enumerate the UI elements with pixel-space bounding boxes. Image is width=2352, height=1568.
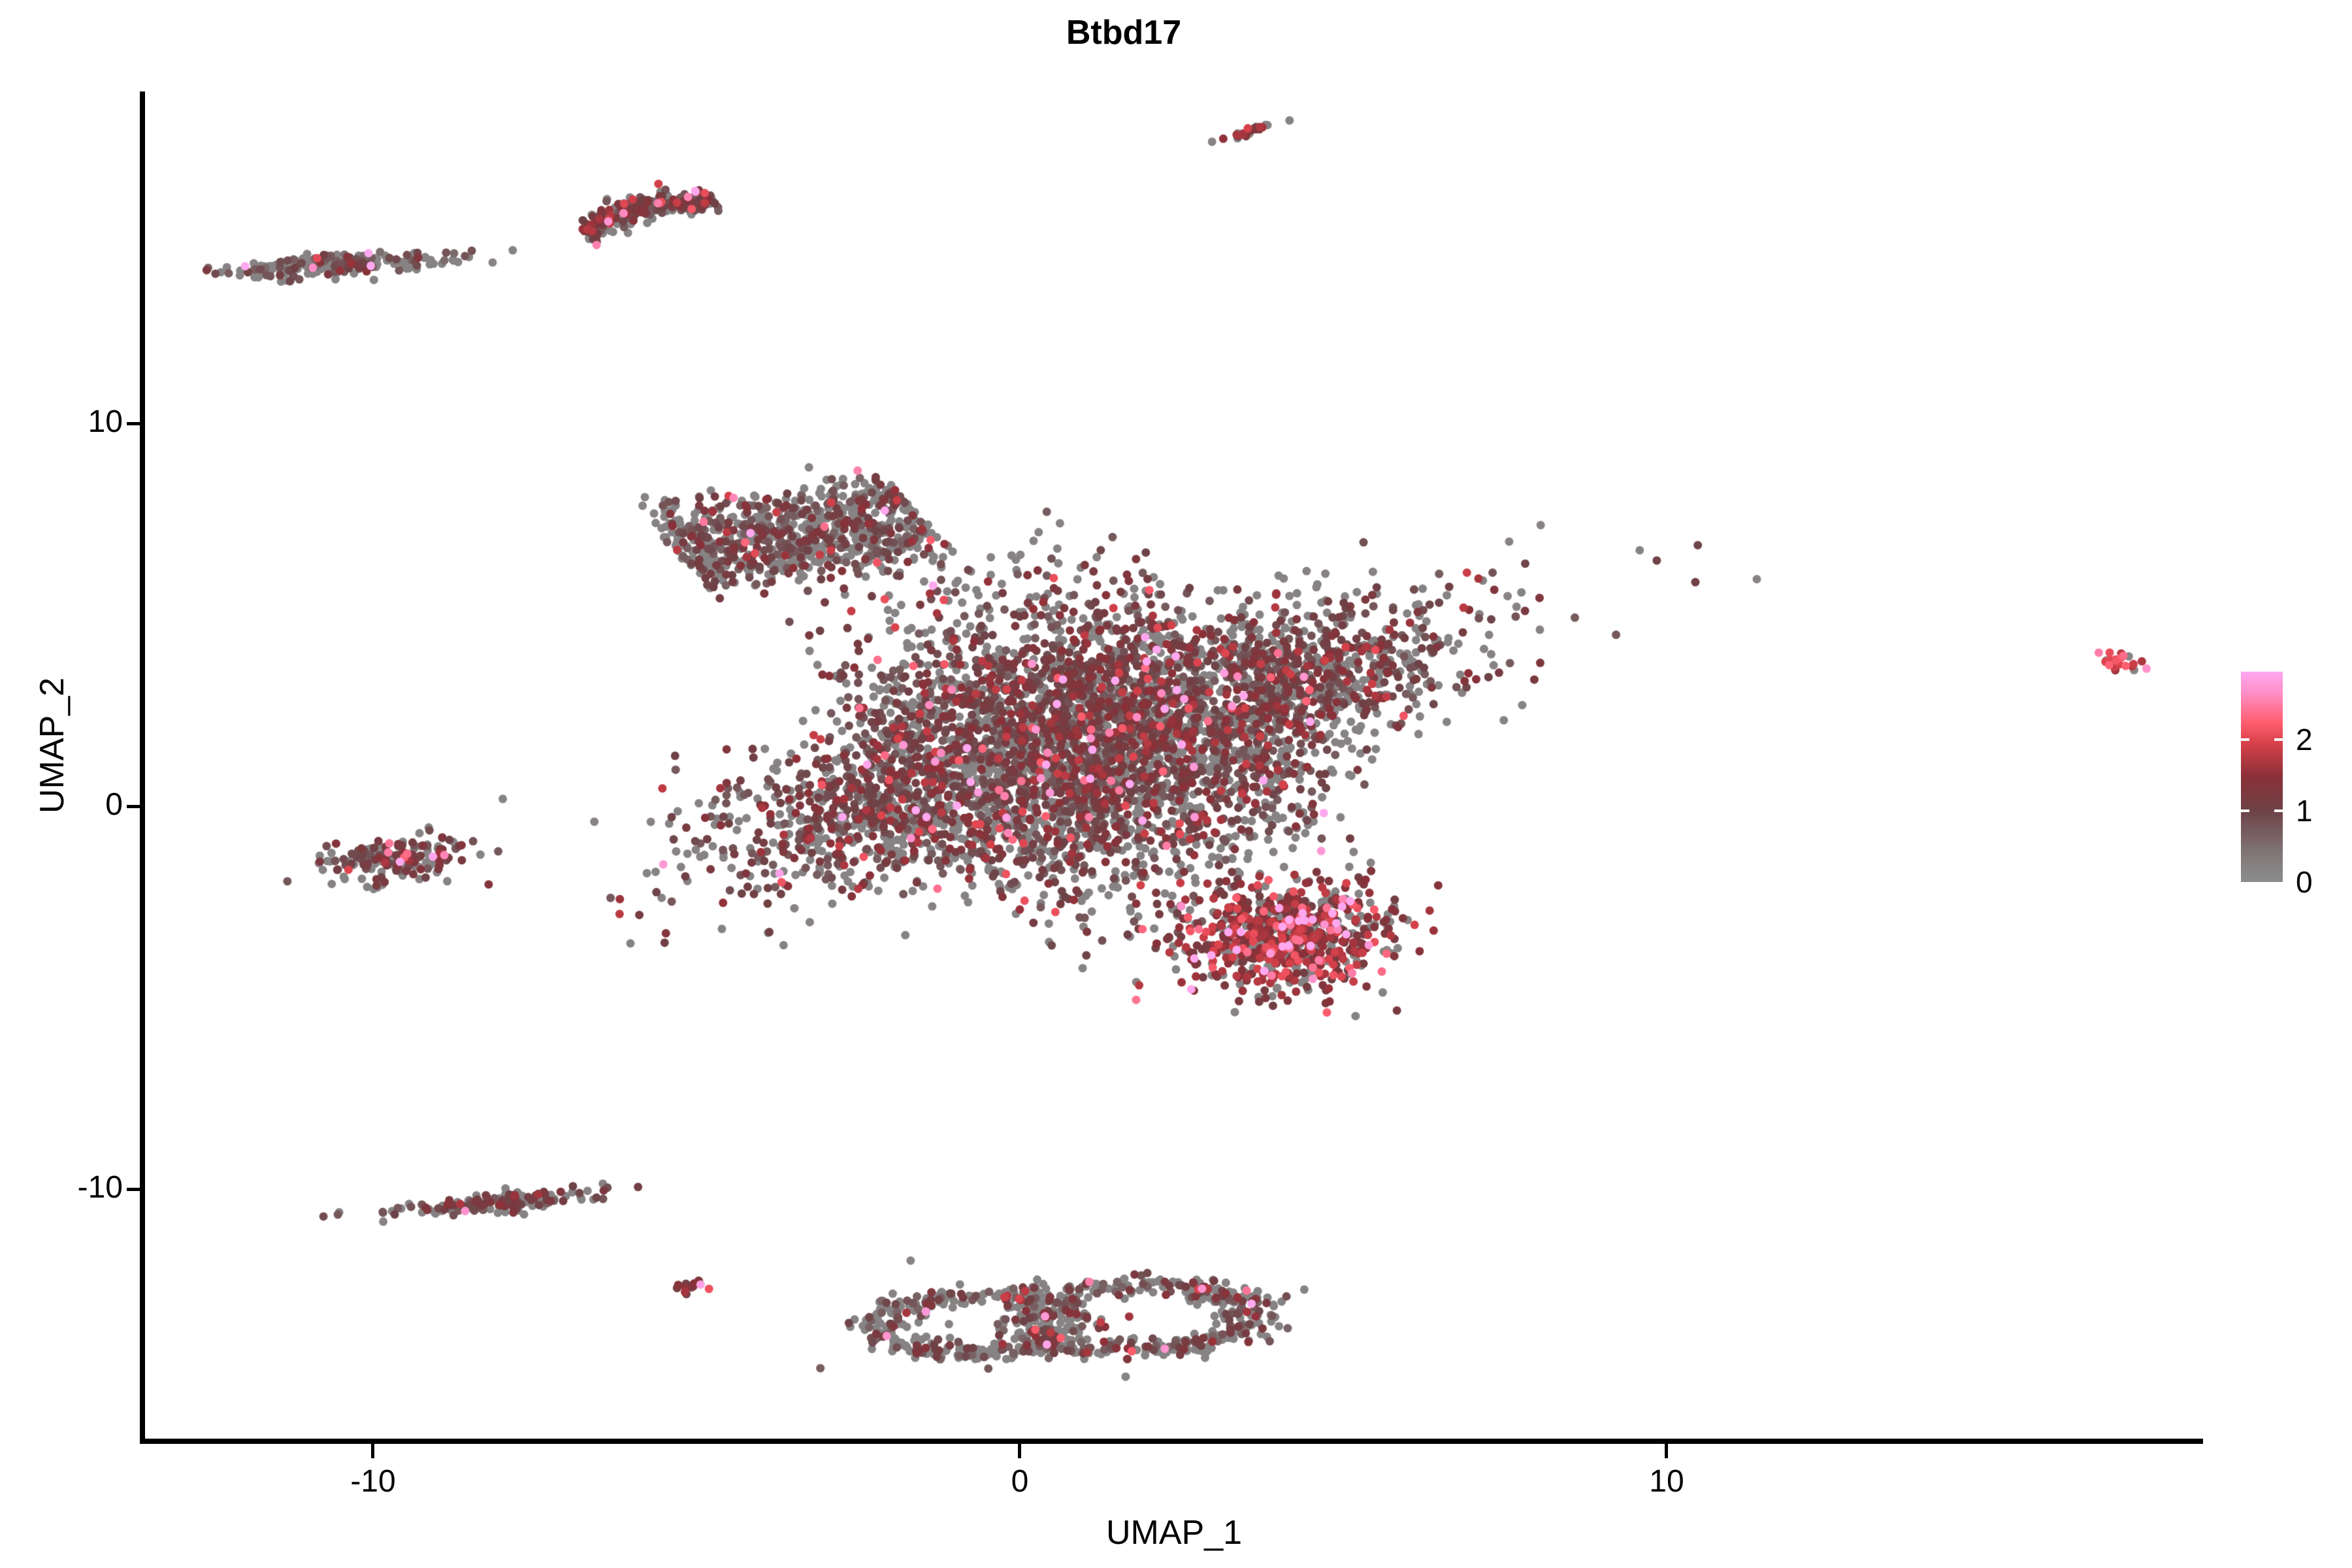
colorbar-label-1: 1 [2296, 796, 2313, 826]
x-axis-line [140, 1439, 2203, 1444]
x-ticklabel-neg10: -10 [350, 1466, 395, 1497]
x-tick-0 [1018, 1444, 1021, 1458]
colorbar-tick-1-right [2274, 809, 2283, 812]
y-tick-neg10 [127, 1188, 140, 1191]
feature-plot-root: Btbd17 10 0 -10 -10 0 10 UMAP_1 UMAP_2 2… [0, 0, 2352, 1568]
page-title: Btbd17 [0, 16, 2300, 50]
x-tick-neg10 [371, 1444, 374, 1458]
y-axis-line [140, 91, 145, 1444]
colorbar-tick-2-left [2241, 738, 2249, 741]
y-ticklabel-0: 0 [105, 789, 123, 821]
colorbar-tick-2-right [2274, 738, 2283, 741]
colorbar-legend: 2 1 0 [2241, 666, 2339, 889]
colorbar-label-0: 0 [2296, 867, 2313, 897]
x-ticklabel-0: 0 [1011, 1466, 1029, 1497]
y-tick-0 [127, 805, 140, 808]
umap-scatter-canvas [145, 91, 2203, 1441]
x-axis-title: UMAP_1 [145, 1516, 2203, 1550]
x-ticklabel-10: 10 [1649, 1466, 1684, 1497]
y-ticklabel-neg10: -10 [78, 1172, 123, 1203]
x-tick-10 [1665, 1444, 1668, 1458]
colorbar-gradient [2241, 672, 2283, 882]
colorbar-tick-1-left [2241, 809, 2249, 812]
y-axis-title: UMAP_2 [35, 419, 69, 1072]
y-tick-10 [127, 422, 140, 425]
colorbar-label-2: 2 [2296, 725, 2313, 755]
y-ticklabel-10: 10 [88, 406, 123, 438]
scatter-panel [145, 91, 2203, 1441]
